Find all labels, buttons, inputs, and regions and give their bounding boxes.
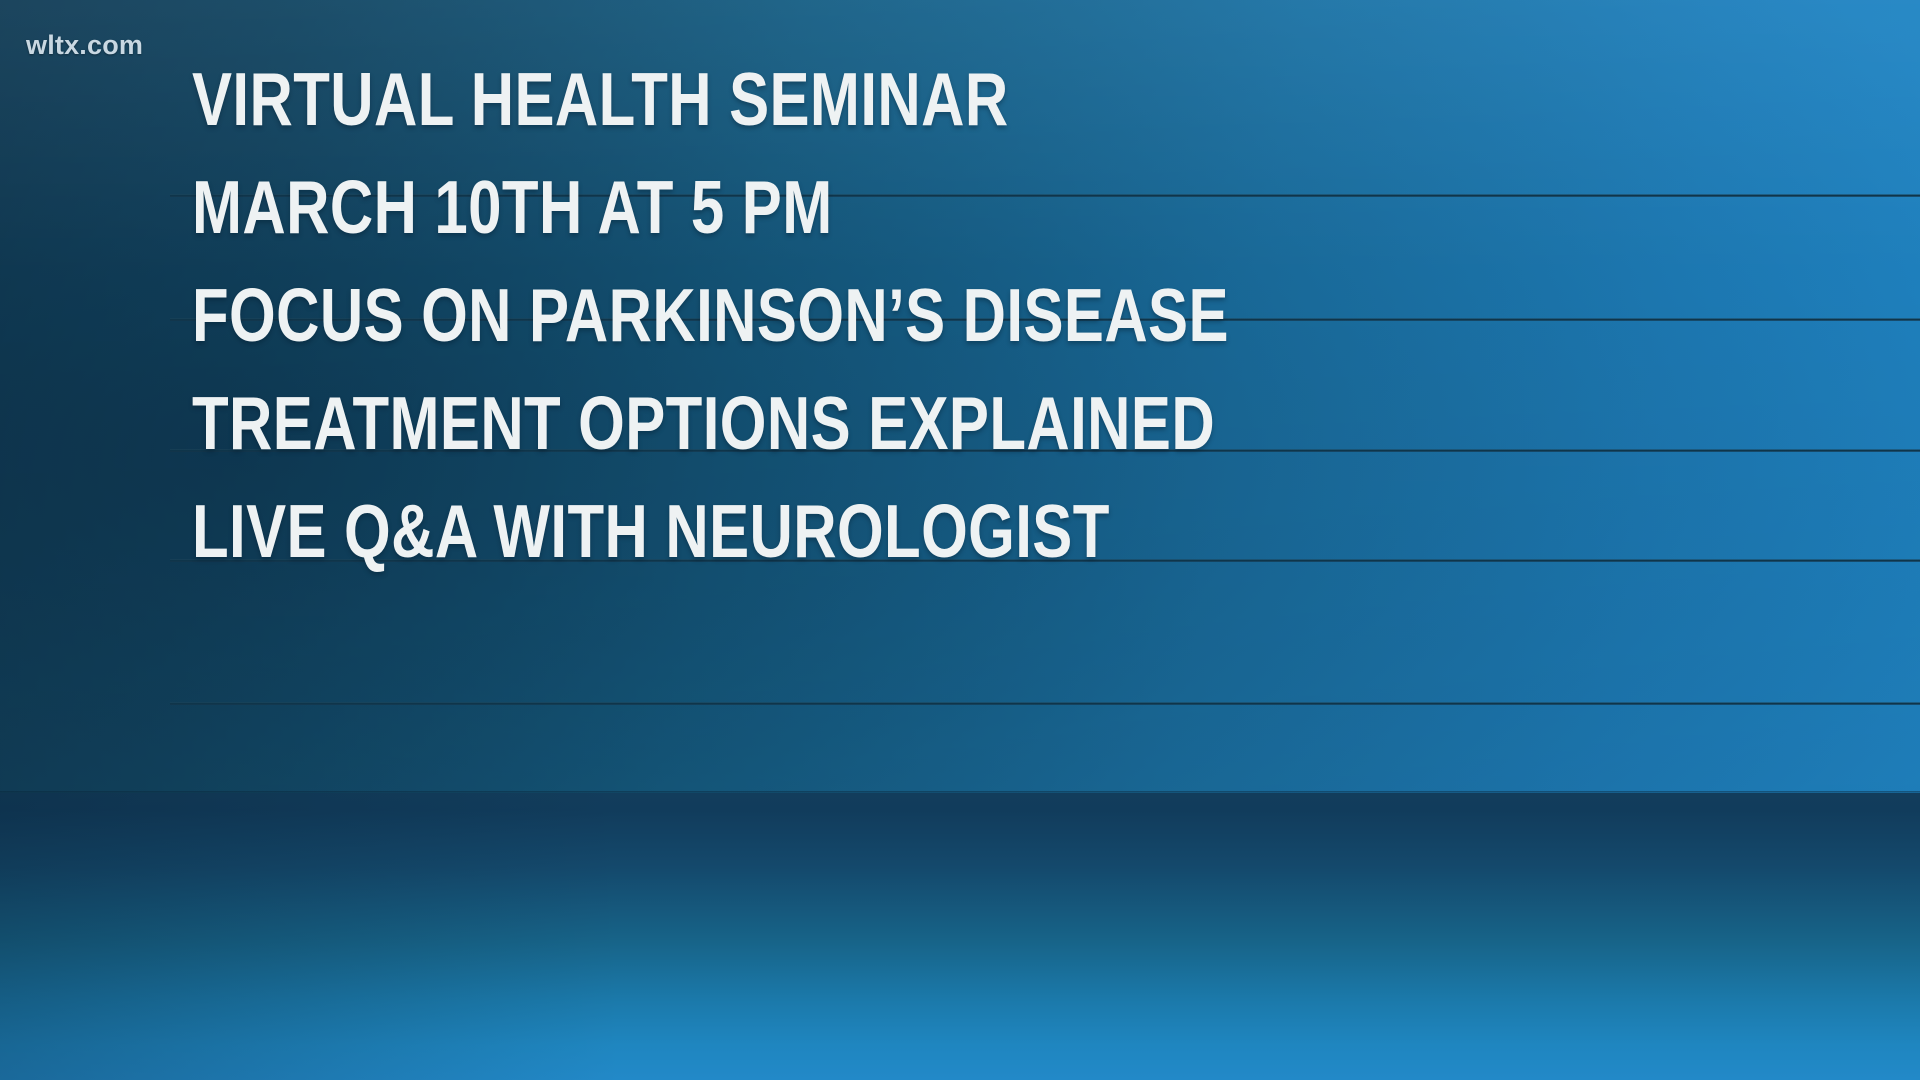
- headline-line-3: FOCUS ON PARKINSON’S DISEASE: [192, 278, 1229, 353]
- headline-line-4: TREATMENT OPTIONS EXPLAINED: [192, 386, 1215, 461]
- headline-line-2: MARCH 10TH AT 5 PM: [192, 170, 833, 245]
- headline-line-5: LIVE Q&A WITH NEUROLOGIST: [192, 494, 1110, 569]
- watermark-wltx: wltx.com: [26, 30, 143, 61]
- lower-band-left-shade: [0, 793, 620, 1080]
- headline-line-1: VIRTUAL HEALTH SEMINAR: [192, 62, 1009, 137]
- separator-rule-5: [170, 702, 1920, 705]
- news-graphic-screen: wltx.com VIRTUAL HEALTH SEMINAR MARCH 10…: [0, 0, 1920, 1080]
